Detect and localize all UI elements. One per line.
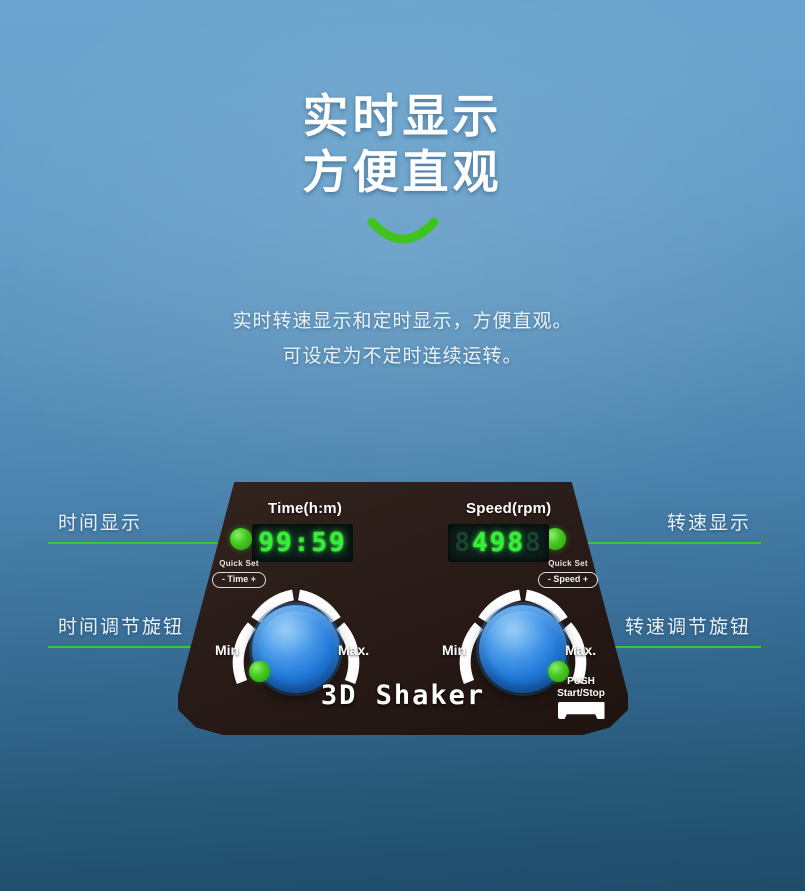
speed-display-value: 498: [472, 530, 525, 556]
speed-display-ghost-right: 8: [525, 530, 543, 556]
subcopy-line-2: 可设定为不定时连续运转。: [0, 339, 805, 374]
push-label: PUSH: [546, 676, 616, 688]
time-knob-min-label: Min: [215, 642, 239, 658]
speed-knob-min-label: Min: [442, 642, 466, 658]
time-knob-max-label: Max.: [338, 642, 369, 658]
speed-knob-max-label: Max.: [565, 642, 596, 658]
time-display-value: 99:59: [258, 530, 346, 556]
time-display-title: Time(h:m): [268, 500, 342, 517]
time-knob-pointer-icon: [249, 661, 270, 682]
headline-line-1: 实时显示: [303, 90, 503, 142]
start-stop-button[interactable]: [558, 702, 605, 719]
headline-line-2: 方便直观: [0, 144, 805, 200]
promo-page: 实时显示 方便直观 实时转速显示和定时显示，方便直观。 可设定为不定时连续运转。…: [0, 0, 805, 891]
speed-display-ghost-left: 8: [454, 530, 472, 556]
smile-arc-icon: [366, 216, 440, 252]
time-indicator-lamp-icon: [230, 528, 252, 550]
speed-seven-segment-display: 8 498 8: [448, 524, 549, 562]
speed-display-title: Speed(rpm): [466, 500, 551, 517]
time-seven-segment-display: 99:59: [252, 524, 353, 562]
start-stop-label: Start/Stop: [546, 688, 616, 700]
speed-quickset-label: Quick Set: [531, 559, 605, 569]
start-stop-control[interactable]: PUSH Start/Stop: [546, 676, 616, 719]
page-subcopy: 实时转速显示和定时显示，方便直观。 可设定为不定时连续运转。: [0, 304, 805, 374]
smile-divider: [0, 216, 805, 257]
shaker-control-panel: Time(h:m) Speed(rpm) 99:59 8 498 8 Quick…: [178, 482, 628, 735]
subcopy-line-1: 实时转速显示和定时显示，方便直观。: [0, 304, 805, 339]
page-headline: 实时显示 方便直观: [0, 88, 805, 200]
time-quickset-label: Quick Set: [202, 559, 276, 569]
